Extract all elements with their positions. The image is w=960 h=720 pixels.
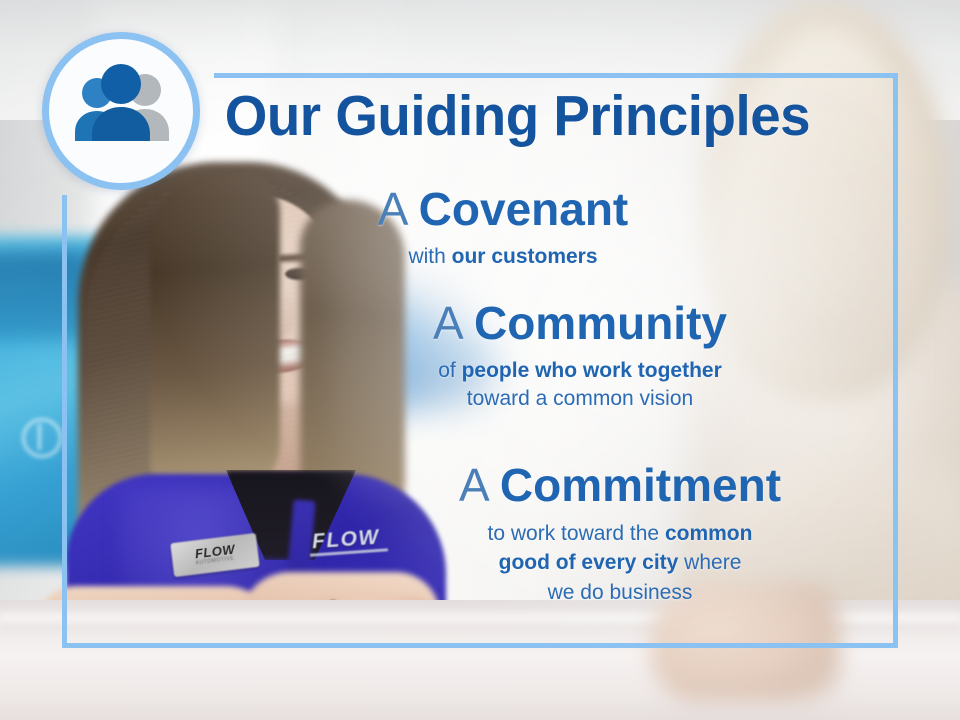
principle-commitment-keyword: Commitment [500, 459, 781, 511]
principle-commitment-article: A [459, 459, 487, 511]
subtext-line: toward a common vision [320, 385, 840, 413]
banner-root: FLOW AUTOMOTIVE FLOW Our Guiding Pri [0, 0, 960, 720]
employee-hair-front-left [150, 172, 280, 502]
display-panel-shadow [0, 250, 90, 340]
subtext-line: of people who work together [320, 357, 840, 385]
principle-covenant-headline: A Covenant [268, 186, 738, 234]
subtext-line: to work toward the common [352, 519, 888, 548]
principle-commitment-headline: A Commitment [352, 462, 888, 510]
principle-community: A Community of people who work togethert… [320, 300, 840, 413]
principle-covenant-subtext: with our customers [268, 243, 738, 271]
principle-covenant-keyword: Covenant [419, 183, 629, 235]
principle-community-article: A [433, 297, 461, 349]
subtext-line: good of every city where [352, 548, 888, 577]
vw-roundel-icon [22, 418, 62, 458]
principle-covenant-article: A [378, 183, 406, 235]
principle-community-subtext: of people who work togethertoward a comm… [320, 357, 840, 413]
principle-community-keyword: Community [474, 297, 727, 349]
subtext-line: with our customers [268, 243, 738, 271]
subtext-line: we do business [352, 578, 888, 607]
principle-community-headline: A Community [320, 300, 840, 348]
principle-commitment: A Commitment to work toward the commongo… [352, 462, 888, 607]
page-title: Our Guiding Principles [19, 88, 941, 145]
principle-covenant: A Covenant with our customers [268, 186, 738, 271]
principle-commitment-subtext: to work toward the commongood of every c… [352, 519, 888, 607]
